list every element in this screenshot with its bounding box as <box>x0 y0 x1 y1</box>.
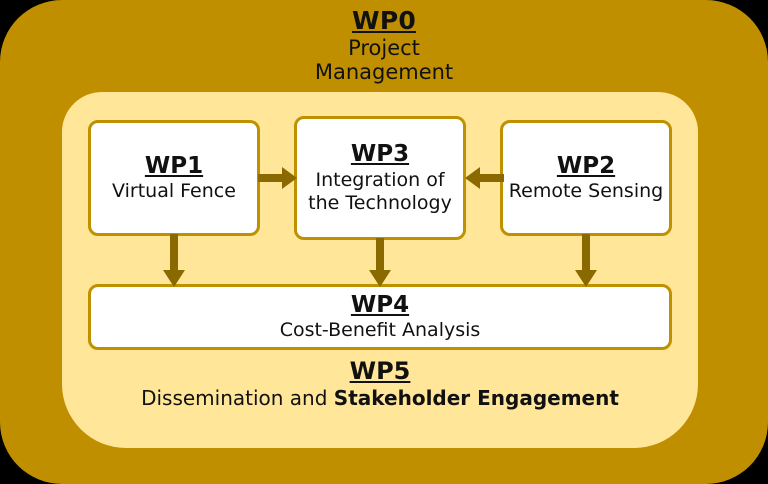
wp5-desc-normal: Dissemination and <box>141 386 334 410</box>
wp0-title-block: WP0 Project Management <box>0 6 768 85</box>
wp4-box[interactable]: WP4 Cost-Benefit Analysis <box>88 284 672 350</box>
wp1-desc-line1: Virtual Fence <box>112 180 236 203</box>
wp5-desc: Dissemination and Stakeholder Engagement <box>62 386 698 410</box>
wp5-desc-bold: Stakeholder Engagement <box>334 386 619 410</box>
wp1-box[interactable]: WP1 Virtual Fence <box>88 120 260 236</box>
wp4-desc-line1: Cost-Benefit Analysis <box>280 319 481 342</box>
wp5-footer-block: WP5 Dissemination and Stakeholder Engage… <box>62 357 698 410</box>
wp3-desc-line1: Integration of <box>315 169 444 192</box>
wp4-code: WP4 <box>351 292 409 320</box>
wp0-desc-line2: Management <box>0 60 768 85</box>
arrow-wp1-to-wp4-icon <box>160 234 188 288</box>
wp2-box[interactable]: WP2 Remote Sensing <box>500 120 672 236</box>
diagram-canvas: WP0 Project Management WP1 Virtual Fence… <box>0 0 768 484</box>
wp3-box[interactable]: WP3 Integration of the Technology <box>294 116 466 240</box>
wp1-code: WP1 <box>145 153 203 181</box>
wp2-code: WP2 <box>557 153 615 181</box>
wp3-desc-line2: the Technology <box>308 192 452 215</box>
wp0-outer-panel: WP0 Project Management WP1 Virtual Fence… <box>0 0 768 484</box>
wp5-code: WP5 <box>62 357 698 386</box>
wp3-code: WP3 <box>351 141 409 169</box>
arrow-wp2-to-wp3-icon <box>464 164 504 192</box>
wp0-desc-line1: Project <box>0 36 768 61</box>
arrow-wp1-to-wp3-icon <box>258 164 298 192</box>
wp0-code: WP0 <box>0 6 768 36</box>
arrow-wp2-to-wp4-icon <box>572 234 600 288</box>
arrow-wp3-to-wp4-icon <box>366 238 394 288</box>
inner-panel: WP1 Virtual Fence WP3 Integration of the… <box>62 92 698 448</box>
wp2-desc-line1: Remote Sensing <box>509 180 663 203</box>
